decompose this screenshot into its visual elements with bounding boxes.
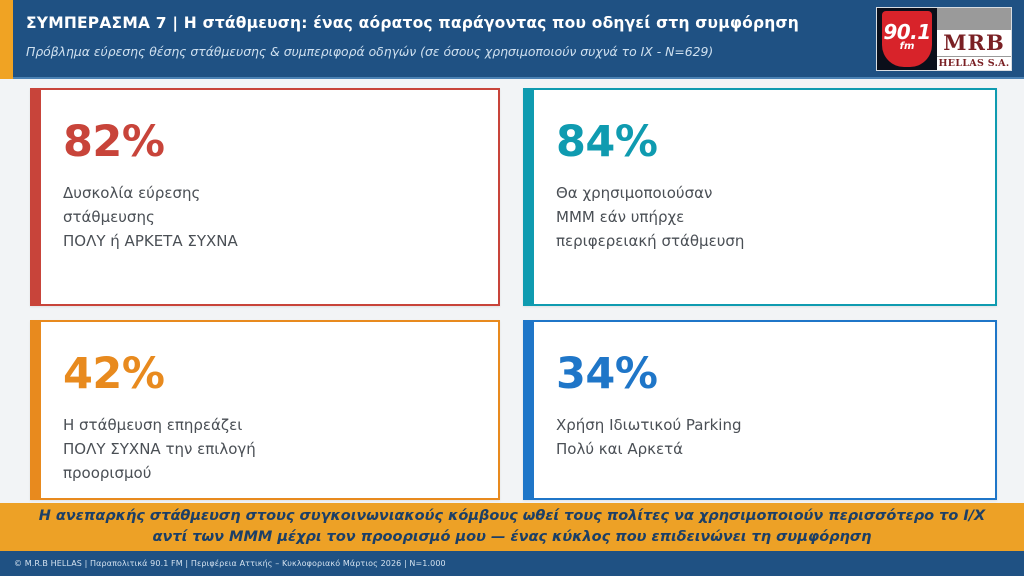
page-title: ΣΥΜΠΕΡΑΣΜΑ 7 | Η στάθμευση: ένας αόρατος…: [26, 12, 866, 34]
stat-description: Δυσκολία εύρεσης στάθμευσης ΠΟΛΥ ή ΑΡΚΕΤ…: [63, 181, 476, 253]
stat-percent-value: 82%: [63, 117, 476, 167]
stat-description-line: Χρήση Ιδιωτικού Parking: [556, 413, 973, 437]
card-body: 82% Δυσκολία εύρεσης στάθμευσης ΠΟΛΥ ή Α…: [41, 90, 498, 304]
logo-brand-name: MRB: [937, 30, 1011, 56]
stat-card-private-parking-use: 34% Χρήση Ιδιωτικού Parking Πολύ και Αρκ…: [523, 320, 997, 500]
stat-description-line: ΠΟΛΥ ΣΥΧΝΑ την επιλογή: [63, 437, 476, 461]
logo-brand-subtitle: HELLAS S.A.: [937, 56, 1011, 70]
mrb-logo: 90.1 fm MRB HELLAS S.A.: [876, 7, 1012, 71]
card-accent-bar: [525, 90, 534, 304]
stat-description: Η στάθμευση επηρεάζει ΠΟΛΥ ΣΥΧΝΑ την επι…: [63, 413, 476, 485]
slide-header: ΣΥΜΠΕΡΑΣΜΑ 7 | Η στάθμευση: ένας αόρατος…: [0, 0, 1024, 79]
card-body: 84% Θα χρησιμοποιούσαν ΜΜΜ εάν υπήρχε πε…: [534, 90, 995, 304]
stat-description: Χρήση Ιδιωτικού Parking Πολύ και Αρκετά: [556, 413, 973, 461]
stat-description: Θα χρησιμοποιούσαν ΜΜΜ εάν υπήρχε περιφε…: [556, 181, 973, 253]
stat-description-line: ΠΟΛΥ ή ΑΡΚΕΤΑ ΣΥΧΝΑ: [63, 229, 476, 253]
stat-description-line: περιφερειακή στάθμευση: [556, 229, 973, 253]
stat-card-parking-affects-destination: 42% Η στάθμευση επηρεάζει ΠΟΛΥ ΣΥΧΝΑ την…: [30, 320, 500, 500]
conclusion-line-2: αντί των ΜΜΜ μέχρι τον προορισμό μου — έ…: [152, 527, 871, 548]
card-accent-bar: [32, 322, 41, 498]
page-subtitle: Πρόβλημα εύρεσης θέσης στάθμευσης & συμπ…: [26, 43, 866, 61]
stat-description-line: Δυσκολία εύρεσης: [63, 181, 476, 205]
card-body: 34% Χρήση Ιδιωτικού Parking Πολύ και Αρκ…: [534, 322, 995, 498]
card-accent-bar: [525, 322, 534, 498]
mrb-brand-block: MRB HELLAS S.A.: [937, 8, 1011, 70]
card-accent-bar: [32, 90, 41, 304]
header-text-group: ΣΥΜΠΕΡΑΣΜΑ 7 | Η στάθμευση: ένας αόρατος…: [26, 12, 866, 61]
stat-percent-value: 34%: [556, 349, 973, 399]
stat-percent-value: 84%: [556, 117, 973, 167]
logo-frequency: 90.1 fm: [883, 23, 930, 52]
stat-card-would-use-public-transport: 84% Θα χρησιμοποιούσαν ΜΜΜ εάν υπήρχε πε…: [523, 88, 997, 306]
stat-description-line: στάθμευσης: [63, 205, 476, 229]
stat-description-line: Πολύ και Αρκετά: [556, 437, 973, 461]
card-body: 42% Η στάθμευση επηρεάζει ΠΟΛΥ ΣΥΧΝΑ την…: [41, 322, 498, 498]
footer-credits: © M.R.B HELLAS | Παραπολιτικά 90.1 FM | …: [0, 559, 446, 568]
slide-root: ΣΥΜΠΕΡΑΣΜΑ 7 | Η στάθμευση: ένας αόρατος…: [0, 0, 1024, 576]
conclusion-banner: Η ανεπαρκής στάθμευση στους συγκοινωνιακ…: [0, 503, 1024, 551]
stat-description-line: Θα χρησιμοποιούσαν: [556, 181, 973, 205]
radio-station-badge: 90.1 fm: [877, 8, 937, 70]
conclusion-line-1: Η ανεπαρκής στάθμευση στους συγκοινωνιακ…: [39, 506, 985, 527]
slide-footer: © M.R.B HELLAS | Παραπολιτικά 90.1 FM | …: [0, 551, 1024, 576]
stat-card-grid: 82% Δυσκολία εύρεσης στάθμευσης ΠΟΛΥ ή Α…: [0, 88, 1024, 500]
header-accent-bar: [0, 0, 13, 79]
header-underline: [13, 77, 1024, 79]
stat-description-line: Η στάθμευση επηρεάζει: [63, 413, 476, 437]
logo-band-label: fm: [883, 41, 930, 52]
stat-description-line: προορισμού: [63, 461, 476, 485]
stat-card-difficulty-finding-parking: 82% Δυσκολία εύρεσης στάθμευσης ΠΟΛΥ ή Α…: [30, 88, 500, 306]
stat-description-line: ΜΜΜ εάν υπήρχε: [556, 205, 973, 229]
stat-percent-value: 42%: [63, 349, 476, 399]
